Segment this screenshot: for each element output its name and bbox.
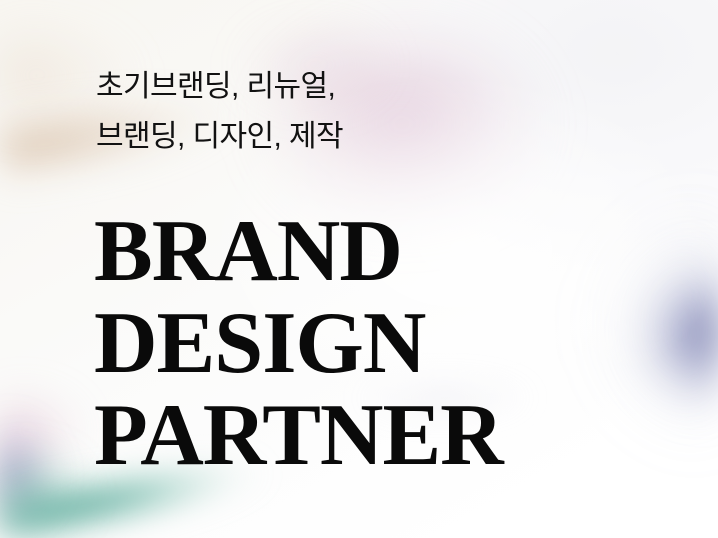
banner-content: 초기브랜딩, 리뉴얼, 브랜딩, 디자인, 제작 BRAND DESIGN PA… bbox=[0, 0, 718, 538]
banner-headline-line-1: BRAND bbox=[94, 206, 503, 298]
banner-eyebrow-line-2: 브랜딩, 디자인, 제작 bbox=[96, 112, 343, 162]
brand-banner: 초기브랜딩, 리뉴얼, 브랜딩, 디자인, 제작 BRAND DESIGN PA… bbox=[0, 0, 718, 538]
banner-eyebrow-line-1: 초기브랜딩, 리뉴얼, bbox=[96, 62, 343, 112]
banner-headline: BRAND DESIGN PARTNER bbox=[94, 206, 503, 482]
banner-headline-line-2: DESIGN bbox=[94, 298, 503, 390]
banner-headline-line-3: PARTNER bbox=[94, 390, 503, 482]
banner-eyebrow: 초기브랜딩, 리뉴얼, 브랜딩, 디자인, 제작 bbox=[96, 62, 343, 162]
